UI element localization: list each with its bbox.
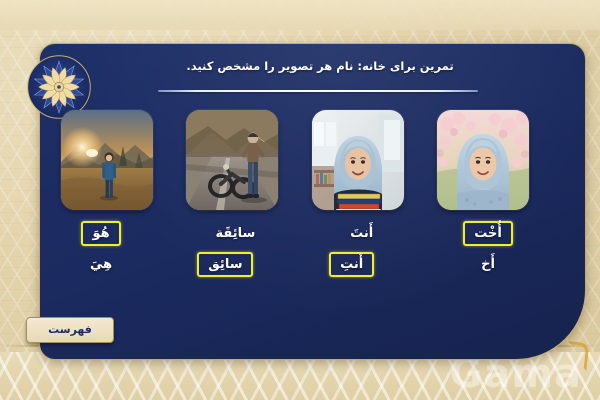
answer-option[interactable]: أَخ [470,252,506,277]
slide-title: تمرین برای خانه: نام هر تصویر را مشخص کن… [150,58,490,74]
answer-group-1: هُوَ هِيَ [55,221,159,277]
answer-option[interactable]: هِيَ [79,252,123,277]
gama-watermark: Gama [450,354,583,394]
exercise-columns: هُوَ هِيَ [55,110,535,300]
motorcyclist-on-mountain-road-photo[interactable] [186,110,278,210]
exercise-column-3: أَنتَ أَنتِ [306,110,410,300]
answer-option[interactable]: هُوَ [81,221,120,246]
slide-stage: Gama [0,0,600,400]
background-top-band [0,0,600,30]
exercise-column-2: سائِقَة سائِق [180,110,284,300]
answer-option[interactable]: أَنتِ [329,252,374,277]
answer-option[interactable]: أَنتَ [339,221,384,246]
gama-watermark-swoosh-icon [565,341,590,371]
girl-with-blossoms-photo[interactable] [437,110,529,210]
girl-with-books-photo[interactable] [312,110,404,210]
exercise-column-4: أُخْت أَخ [431,110,535,300]
answer-option[interactable]: سائِقَة [204,221,266,246]
answer-option[interactable]: سائِق [197,252,253,277]
answer-option[interactable]: أُخْت [463,221,513,246]
exercise-column-1: هُوَ هِيَ [55,110,159,300]
boy-in-sunset-landscape-photo[interactable] [61,110,153,210]
index-button[interactable]: فهرست [26,317,114,343]
answer-group-4: أُخْت أَخ [431,221,535,277]
answer-group-2: سائِقَة سائِق [180,221,284,277]
answer-group-3: أَنتَ أَنتِ [306,221,410,277]
title-underline [158,90,478,92]
